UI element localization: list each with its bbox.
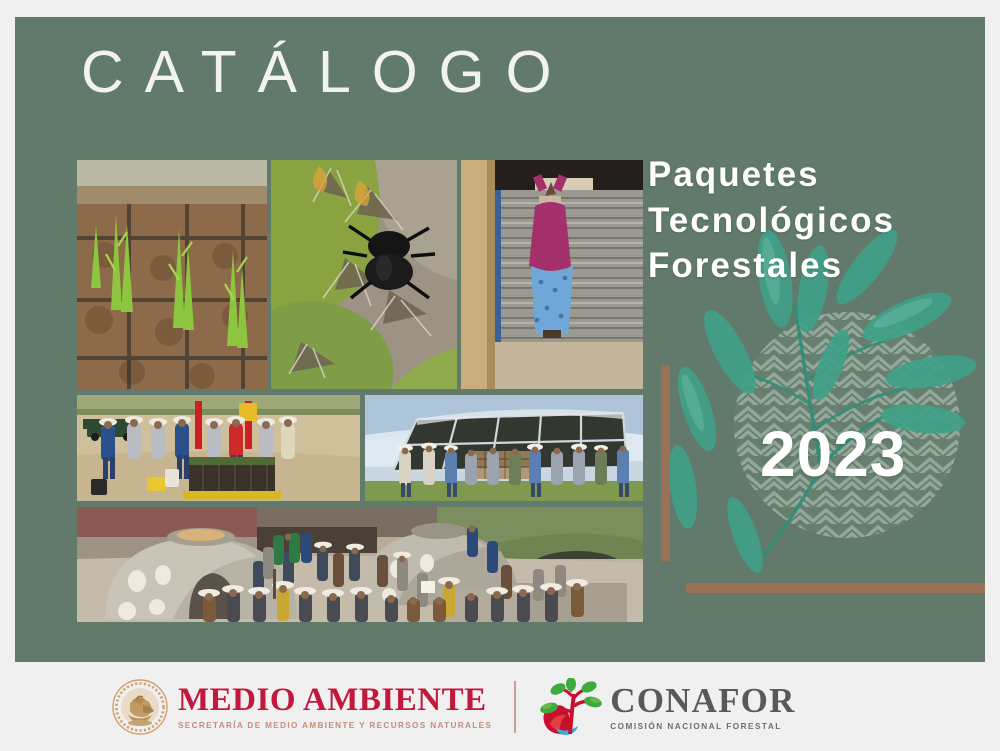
- mexican-national-seal-icon: [112, 679, 168, 735]
- cover-panel: CATÁLOGO: [15, 17, 985, 662]
- subtitle-line-2: Tecnológicos: [648, 198, 985, 244]
- photo-workers-with-seedling-crates: [77, 395, 360, 501]
- photo-group-at-shadehouse: [365, 395, 643, 501]
- conafor-tree-icon: [538, 678, 604, 736]
- conafor-text-block: CONAFOR COMISIÓN NACIONAL FORESTAL: [610, 683, 795, 731]
- semarnat-text-block: MEDIO AMBIENTE SECRETARÍA DE MEDIO AMBIE…: [178, 684, 492, 730]
- collage-row: [77, 160, 643, 389]
- conafor-logo: CONAFOR COMISIÓN NACIONAL FORESTAL: [538, 678, 795, 736]
- page-title: CATÁLOGO: [81, 43, 572, 102]
- photo-cactus-beetle-pest: [271, 160, 457, 389]
- cover-subtitle: Paquetes Tecnológicos Forestales: [648, 152, 985, 289]
- semarnat-subtitle: SECRETARÍA DE MEDIO AMBIENTE Y RECURSOS …: [178, 722, 492, 730]
- horizontal-accent-rule: [686, 583, 985, 593]
- conafor-subtitle: COMISIÓN NACIONAL FORESTAL: [610, 723, 795, 731]
- collage-row: [77, 507, 643, 622]
- photo-collage: [77, 160, 643, 622]
- footer-logo-bar: MEDIO AMBIENTE SECRETARÍA DE MEDIO AMBIE…: [0, 662, 1000, 751]
- photo-woman-stacking-lumber: [461, 160, 643, 389]
- year-label: 2023: [760, 422, 906, 486]
- semarnat-title: MEDIO AMBIENTE: [178, 684, 492, 717]
- logo-group: MEDIO AMBIENTE SECRETARÍA DE MEDIO AMBIE…: [112, 676, 796, 738]
- conafor-title: CONAFOR: [610, 683, 795, 718]
- collage-row: [77, 395, 643, 501]
- semarnat-logo: MEDIO AMBIENTE SECRETARÍA DE MEDIO AMBIE…: [112, 679, 492, 735]
- subtitle-line-3: Forestales: [648, 243, 985, 289]
- photo-pine-seedlings-nursery-trays: [77, 160, 267, 389]
- logo-divider: [514, 681, 516, 733]
- subtitle-line-1: Paquetes: [648, 152, 985, 198]
- photo-charcoal-kilns-training: [77, 507, 643, 622]
- vertical-accent-rule: [661, 365, 670, 561]
